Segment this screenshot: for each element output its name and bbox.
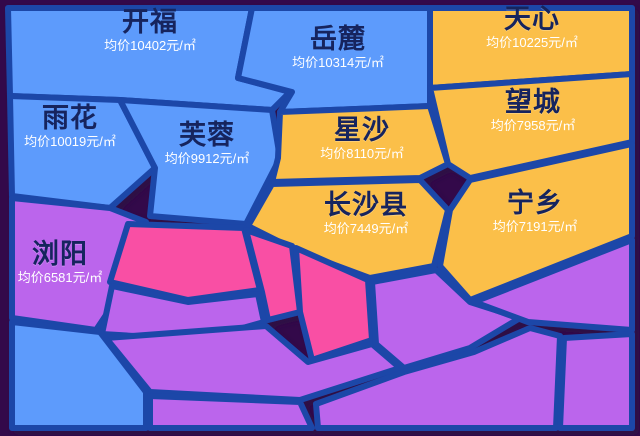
region-purple-south[interactable] bbox=[150, 396, 312, 428]
region-purple-east-edge[interactable] bbox=[560, 334, 632, 428]
district-map-svg bbox=[0, 0, 640, 436]
region-xingsha[interactable] bbox=[272, 106, 448, 182]
price-map-canvas: 开福 均价10402元/㎡ 岳麓 均价10314元/㎡ 天心 均价10225元/… bbox=[0, 0, 640, 436]
